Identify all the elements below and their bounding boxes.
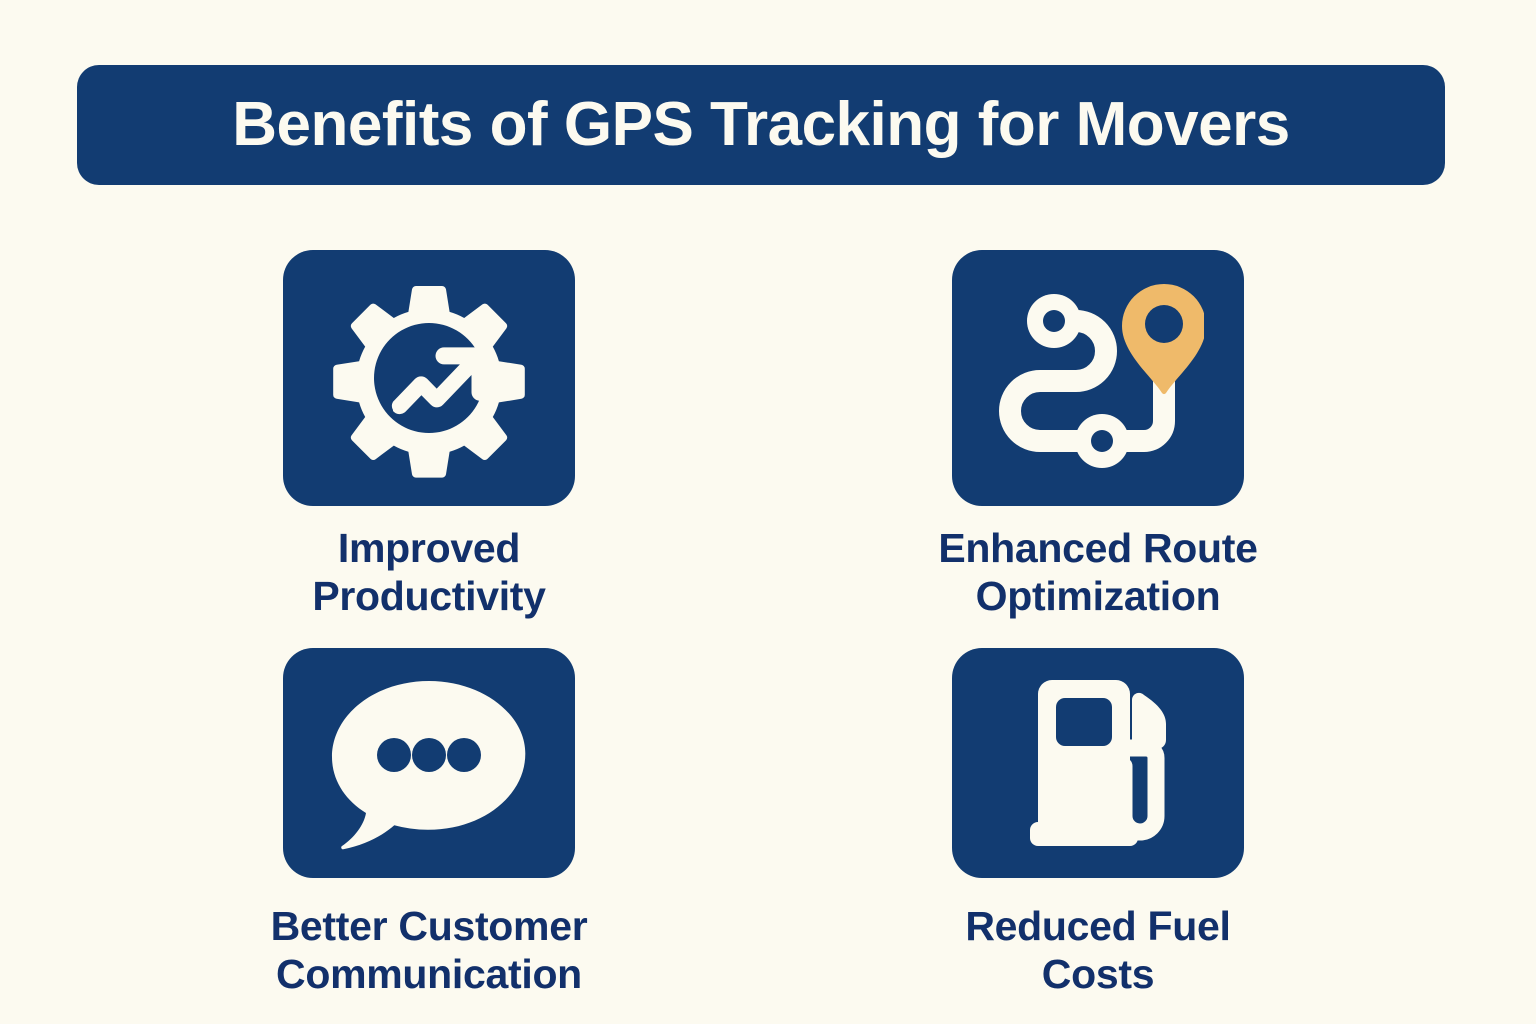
icon-tile-reduced-fuel-costs — [952, 648, 1244, 878]
speech-bubble-dots-icon — [324, 673, 534, 853]
benefit-label-better-customer-communication: Better Customer Communication — [243, 902, 615, 999]
gear-trend-arrow-icon — [329, 278, 529, 478]
benefit-label-reduced-fuel-costs: Reduced Fuel Costs — [912, 902, 1284, 999]
benefit-card-improved-productivity: Improved Productivity — [243, 250, 615, 621]
benefit-label-improved-productivity: Improved Productivity — [243, 524, 615, 621]
icon-tile-better-customer-communication — [283, 648, 575, 878]
page-title: Benefits of GPS Tracking for Movers — [232, 94, 1289, 156]
icon-tile-improved-productivity — [283, 250, 575, 506]
benefit-label-enhanced-route-optimization: Enhanced Route Optimization — [912, 524, 1284, 621]
title-banner: Benefits of GPS Tracking for Movers — [77, 65, 1445, 185]
icon-tile-enhanced-route-optimization — [952, 250, 1244, 506]
benefit-card-better-customer-communication: Better Customer Communication — [243, 648, 615, 999]
route-map-pin-icon — [992, 278, 1204, 478]
benefit-card-enhanced-route-optimization: Enhanced Route Optimization — [912, 250, 1284, 621]
benefit-card-reduced-fuel-costs: Reduced Fuel Costs — [912, 648, 1284, 999]
infographic-canvas: Benefits of GPS Tracking for Movers Impr… — [0, 0, 1536, 1024]
fuel-pump-icon — [998, 672, 1198, 854]
